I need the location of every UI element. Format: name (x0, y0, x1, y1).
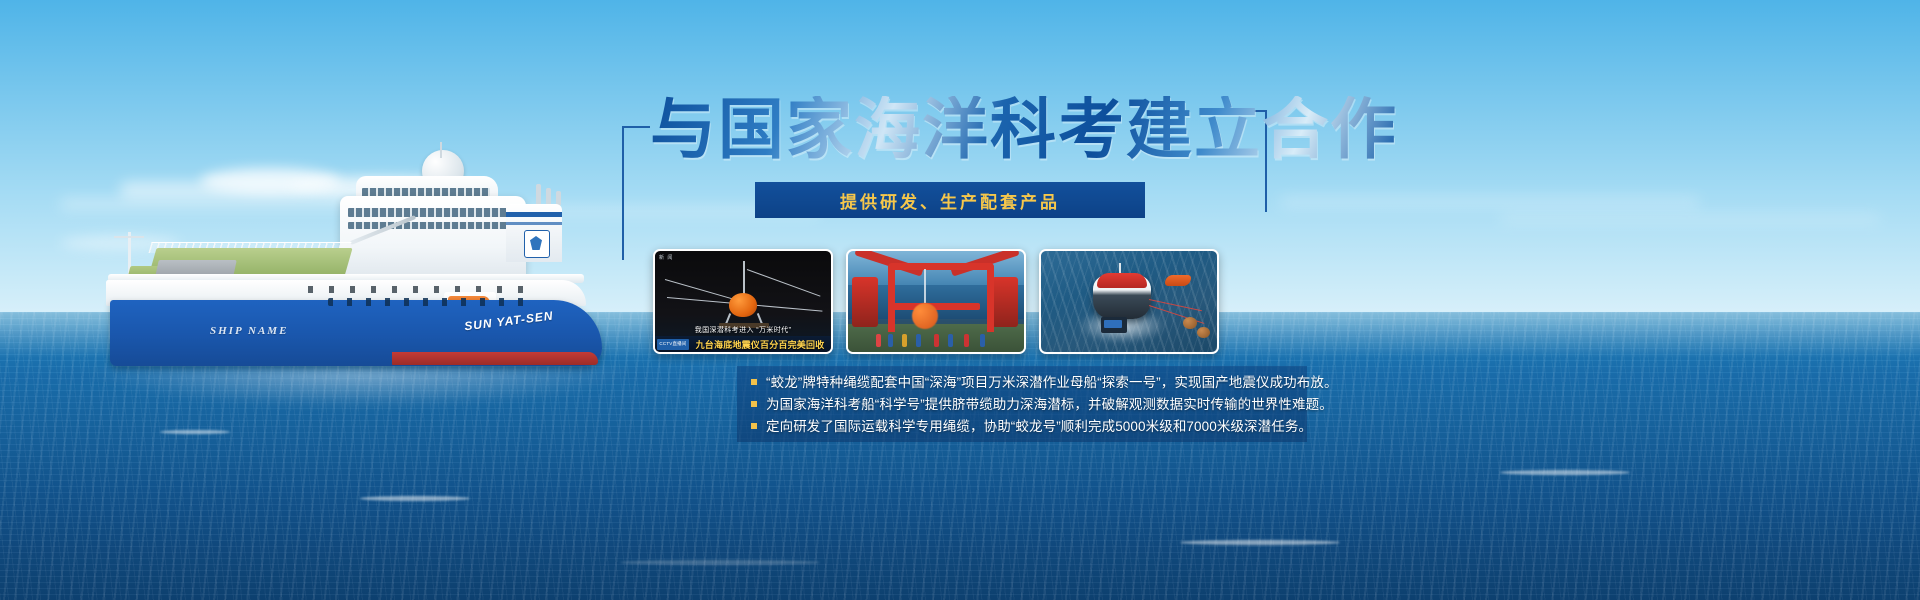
exhaust-pipe (536, 184, 541, 206)
news-caption-bar: CCTV直播间 九台海底地震仪百分百完美回收 (655, 336, 831, 352)
crew-member (964, 334, 969, 347)
deck-windows (348, 222, 516, 229)
seismometer-pod-icon (729, 293, 757, 317)
porthole-row (308, 286, 538, 293)
sea-sparkle (620, 560, 820, 565)
research-vessel-illustration: SHIP NAME SUN YAT-SEN (92, 148, 612, 388)
ship-emblem-icon (524, 230, 550, 258)
subtitle-text: 提供研发、生产配套产品 (840, 188, 1060, 213)
hero-banner: SHIP NAME SUN YAT-SEN 与国家海洋科考建立合作 提供研发、生… (0, 0, 1920, 600)
headline-bracket-left (622, 126, 650, 260)
bullet-text: 定向研发了国际运载科学专用绳缆，协助“蛟龙号”顺利完成5000米级和7000米级… (766, 417, 1312, 436)
sea-sparkle (1180, 540, 1340, 545)
mast (440, 142, 442, 158)
crew-member (948, 334, 953, 347)
crew-member (876, 334, 881, 347)
tow-rope (1149, 299, 1202, 312)
hull-boot-topping (392, 352, 598, 365)
crane-tower (992, 277, 1018, 327)
subtitle-bar: 提供研发、生产配套产品 (755, 182, 1145, 218)
deck-windows (348, 208, 516, 217)
crew-member (902, 334, 907, 347)
crew-member (916, 334, 921, 347)
crew-member (888, 334, 893, 347)
sea-sparkle (1500, 470, 1630, 475)
list-item: 为国家海洋科考船“科学号”提供脐带缆助力深海潜标，并破解观测数据实时传输的世界性… (751, 395, 1293, 414)
news-caption-top: 我国深潜科考进入 “万米时代” (655, 325, 831, 335)
funnel-stripe (506, 222, 562, 225)
thumbnail-submersible-recovery[interactable] (1039, 249, 1219, 354)
submersible-sail (1097, 273, 1147, 288)
marker-buoy (1183, 317, 1197, 329)
bullet-marker-icon (751, 423, 757, 429)
bullet-marker-icon (751, 401, 757, 407)
feature-bullet-panel: “蛟龙”牌特种绳缆配套中国“深海”项目万米深潜作业母船“探索一号”，实现国产地震… (737, 366, 1307, 442)
list-item: “蛟龙”牌特种绳缆配套中国“深海”项目万米深潜作业母船“探索一号”，实现国产地震… (751, 373, 1293, 392)
funnel-stripe (506, 212, 562, 217)
live-tag: CCTV直播间 (657, 339, 689, 350)
thumbnail-deck-crane[interactable] (846, 249, 1026, 354)
cloud (1280, 196, 1700, 208)
porthole-row (328, 298, 528, 306)
sea-sparkle (360, 496, 470, 501)
foremast-yard (114, 236, 144, 238)
bullet-text: “蛟龙”牌特种绳缆配套中国“深海”项目万米深潜作业母船“探索一号”，实现国产地震… (766, 373, 1338, 392)
submersible-skid (1101, 317, 1127, 333)
rescue-boat (1165, 275, 1191, 286)
a-frame-gantry (888, 263, 994, 332)
list-item: 定向研发了国际运载科学专用绳缆，协助“蛟龙号”顺利完成5000米级和7000米级… (751, 417, 1293, 436)
news-caption-main: 九台海底地震仪百分百完美回收 (689, 338, 831, 351)
bullet-text: 为国家海洋科考船“科学号”提供脐带缆助力深海潜标，并破解观测数据实时传输的世界性… (766, 395, 1333, 414)
cloud (1500, 214, 1880, 224)
sea-sparkle (160, 430, 230, 434)
hull-name-text: SHIP NAME (210, 325, 288, 337)
winch-cable (747, 269, 821, 297)
hoist-line (743, 261, 745, 295)
crew-member (980, 334, 985, 347)
crew-member (934, 334, 939, 347)
bullet-marker-icon (751, 379, 757, 385)
news-corner-tag: 新 闻 (659, 254, 673, 261)
crane-tower (852, 277, 878, 327)
marker-buoy (1197, 327, 1210, 338)
thumbnail-news-broadcast[interactable]: 新 闻 我国深潜科考进入 “万米时代” CCTV直播间 九台海底地震仪百分百完美… (653, 249, 833, 354)
page-title: 与国家海洋科考建立合作 (650, 96, 1398, 162)
float-cluster (912, 303, 938, 329)
thumbnail-gallery: 新 闻 我国深潜科考进入 “万米时代” CCTV直播间 九台海底地震仪百分百完美… (653, 249, 1219, 354)
